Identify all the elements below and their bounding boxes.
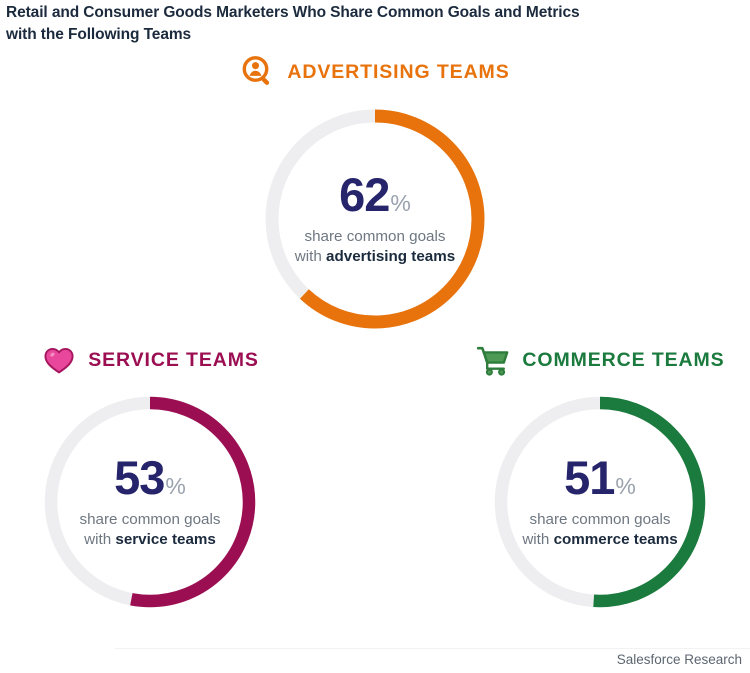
magnifier-person-icon: [240, 54, 276, 90]
footer-divider: [115, 648, 750, 649]
donut-heading-label-service: SERVICE TEAMS: [88, 349, 259, 372]
page-title-line-2: with the Following Teams: [6, 24, 686, 46]
donut-heading-advertising: ADVERTISING TEAMS: [135, 52, 615, 92]
donut-chart-commerce: 51% share common goals with commerce tea…: [480, 382, 720, 622]
donut-heading-label-advertising: ADVERTISING TEAMS: [287, 61, 509, 84]
donut-block-advertising: ADVERTISING TEAMS 62% share common goals…: [135, 52, 615, 344]
page-title: Retail and Consumer Goods Marketers Who …: [6, 2, 686, 47]
donut-heading-commerce: COMMERCE TEAMS: [465, 340, 735, 380]
source-attribution: Salesforce Research: [617, 652, 742, 667]
donut-heading-label-commerce: COMMERCE TEAMS: [522, 349, 724, 372]
donut-block-service: SERVICE TEAMS 53% share common goals wit…: [20, 340, 280, 622]
heart-icon: [41, 342, 77, 378]
page-title-line-1: Retail and Consumer Goods Marketers Who …: [6, 2, 686, 24]
donut-block-commerce: COMMERCE TEAMS 51% share common goals wi…: [465, 340, 735, 622]
donut-chart-advertising: 62% share common goals with advertising …: [250, 94, 500, 344]
donut-heading-service: SERVICE TEAMS: [20, 340, 280, 380]
donut-chart-service: 53% share common goals with service team…: [30, 382, 270, 622]
shopping-cart-icon: [475, 342, 511, 378]
